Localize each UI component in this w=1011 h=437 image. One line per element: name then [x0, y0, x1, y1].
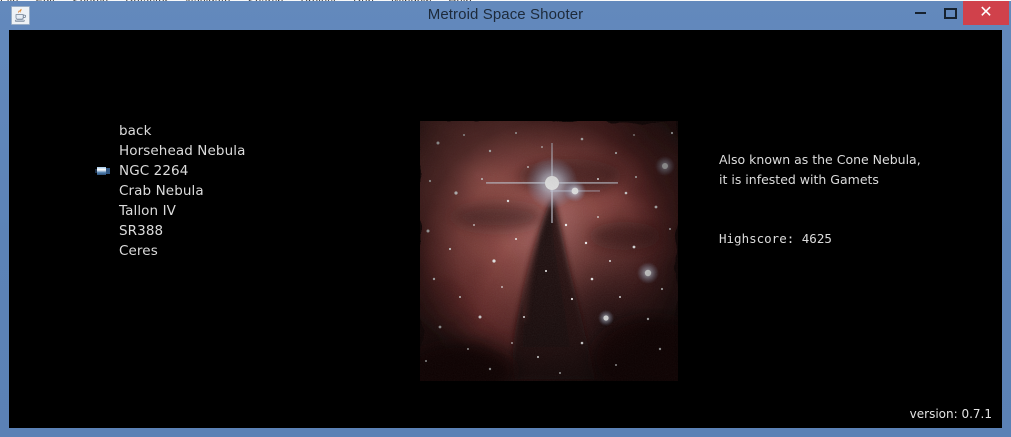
- level-select-menu[interactable]: back Horsehead Nebula NGC 2264 Crab Nebu…: [119, 121, 245, 261]
- maximize-icon: [944, 8, 957, 19]
- ngc-2264-cone-nebula-image: [420, 121, 678, 381]
- menu-item-label: Horsehead Nebula: [119, 143, 245, 159]
- minimize-icon: [915, 12, 926, 14]
- menu-item-tallon-iv[interactable]: Tallon IV: [119, 201, 245, 221]
- menu-item-horsehead-nebula[interactable]: Horsehead Nebula: [119, 141, 245, 161]
- application-window: Metroid Space Shooter ✕ back Horsehead N…: [0, 1, 1011, 437]
- menu-item-ngc-2264[interactable]: NGC 2264: [119, 161, 245, 181]
- close-button[interactable]: ✕: [963, 1, 1009, 25]
- menu-item-ceres[interactable]: Ceres: [119, 241, 245, 261]
- minimize-button[interactable]: [905, 2, 935, 24]
- menu-item-label: back: [119, 123, 151, 139]
- title-bar[interactable]: Metroid Space Shooter ✕: [0, 1, 1011, 30]
- menu-item-sr388[interactable]: SR388: [119, 221, 245, 241]
- description-line-2: it is infested with Gamets: [719, 170, 921, 190]
- level-description: Also known as the Cone Nebula, it is inf…: [719, 150, 921, 190]
- description-line-1: Also known as the Cone Nebula,: [719, 150, 921, 170]
- menu-item-label: SR388: [119, 223, 163, 239]
- menu-item-label: Crab Nebula: [119, 183, 204, 199]
- menu-item-crab-nebula[interactable]: Crab Nebula: [119, 181, 245, 201]
- ship-cursor-icon: [95, 167, 110, 175]
- version-label: version: 0.7.1: [910, 407, 992, 421]
- highscore-label: Highscore: 4625: [719, 231, 832, 246]
- screen: FileEditSourceRefactorNavigateSearchProj…: [0, 0, 1011, 437]
- game-canvas[interactable]: back Horsehead Nebula NGC 2264 Crab Nebu…: [9, 30, 1002, 428]
- window-title: Metroid Space Shooter: [0, 1, 1011, 28]
- menu-item-label: Tallon IV: [119, 203, 176, 219]
- menu-item-back[interactable]: back: [119, 121, 245, 141]
- close-icon: ✕: [979, 5, 992, 21]
- menu-item-label: Ceres: [119, 243, 158, 259]
- maximize-button[interactable]: [935, 2, 965, 24]
- menu-item-label: NGC 2264: [119, 163, 188, 179]
